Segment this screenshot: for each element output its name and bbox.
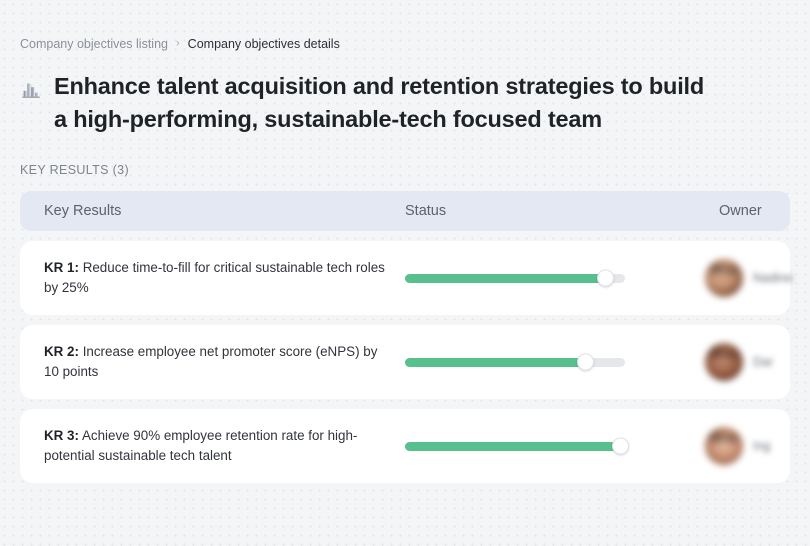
key-results-section-label: KEY RESULTS (3): [20, 163, 790, 177]
owner-cell: Ing: [663, 427, 790, 465]
table-row[interactable]: KR 2: Increase employee net promoter sco…: [20, 325, 790, 399]
owner-cell: Dar: [663, 343, 790, 381]
key-result-description: Achieve 90% employee retention rate for …: [44, 428, 357, 463]
progress-fill: [405, 358, 585, 367]
key-result-label: KR 3:: [44, 428, 79, 443]
progress-fill: [405, 274, 605, 283]
key-result-text: KR 2: Increase employee net promoter sco…: [20, 342, 405, 383]
progress-slider-handle[interactable]: [612, 438, 629, 455]
cityscape-buildings-icon: [20, 78, 42, 100]
progress-fill: [405, 442, 621, 451]
avatar: [705, 427, 743, 465]
column-header-key-results: Key Results: [20, 204, 405, 219]
key-result-label: KR 2:: [44, 344, 79, 359]
progress-slider[interactable]: [405, 358, 625, 367]
owner-name: Ing: [753, 439, 770, 453]
key-result-description: Reduce time-to-fill for critical sustain…: [44, 260, 385, 295]
owner-name: Nadine: [753, 271, 793, 285]
table-header-row: Key Results Status Owner: [20, 191, 790, 231]
progress-slider-handle[interactable]: [577, 354, 594, 371]
owner-name: Dar: [753, 355, 773, 369]
column-header-status: Status: [405, 204, 663, 219]
chevron-right-icon: ›: [176, 38, 180, 49]
breadcrumb: Company objectives listing › Company obj…: [20, 0, 790, 51]
page-title: Enhance talent acquisition and retention…: [54, 70, 720, 137]
breadcrumb-current-company-objectives-details: Company objectives details: [188, 38, 340, 51]
objective-details-page: Company objectives listing › Company obj…: [0, 0, 810, 546]
breadcrumb-link-company-objectives-listing[interactable]: Company objectives listing: [20, 38, 168, 51]
progress-slider[interactable]: [405, 274, 625, 283]
key-result-label: KR 1:: [44, 260, 79, 275]
table-row[interactable]: KR 3: Achieve 90% employee retention rat…: [20, 409, 790, 483]
key-result-text: KR 1: Reduce time-to-fill for critical s…: [20, 258, 405, 299]
progress-slider[interactable]: [405, 442, 625, 451]
status-cell: [405, 358, 663, 367]
table-row[interactable]: KR 1: Reduce time-to-fill for critical s…: [20, 241, 790, 315]
avatar: [705, 259, 743, 297]
key-result-text: KR 3: Achieve 90% employee retention rat…: [20, 426, 405, 467]
key-results-table: Key Results Status Owner KR 1: Reduce ti…: [20, 191, 790, 483]
progress-slider-handle[interactable]: [597, 270, 614, 287]
status-cell: [405, 274, 663, 283]
status-cell: [405, 442, 663, 451]
column-header-owner: Owner: [663, 204, 790, 219]
owner-cell: Nadine: [663, 259, 793, 297]
key-result-description: Increase employee net promoter score (eN…: [44, 344, 377, 379]
avatar: [705, 343, 743, 381]
objective-title-row: Enhance talent acquisition and retention…: [20, 70, 720, 137]
